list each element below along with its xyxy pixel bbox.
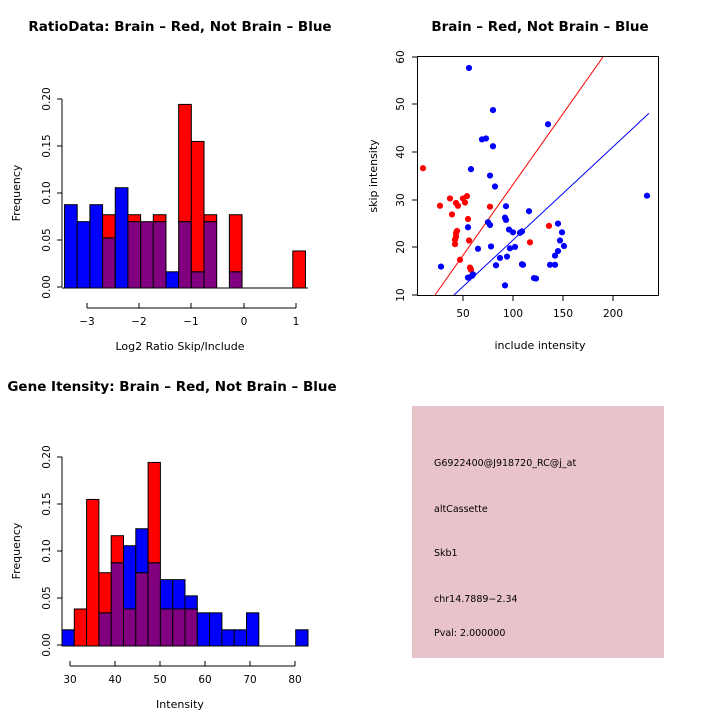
histogram-bar-overlap — [99, 613, 111, 646]
gene-ytick-0: 0.00 — [41, 633, 53, 656]
scatter-data-points — [420, 65, 650, 289]
scatter-point — [559, 229, 565, 235]
histogram-bar — [179, 104, 192, 221]
ratio-histogram-bars — [65, 104, 306, 288]
scatter-xtick-1: 100 — [503, 308, 523, 320]
scatter-point — [497, 255, 503, 261]
histogram-bar-overlap — [191, 272, 204, 288]
event-type-text: altCassette — [434, 504, 488, 515]
scatter-point — [644, 193, 650, 199]
scatter-point — [475, 246, 481, 252]
scatter-point — [504, 253, 510, 259]
scatter-point — [503, 217, 509, 223]
histogram-bar-overlap — [160, 609, 172, 646]
gene-x-axis — [70, 661, 295, 666]
ratio-y-axis — [57, 99, 62, 287]
scatter-ytick-4: 50 — [395, 97, 407, 110]
histogram-bar — [90, 205, 103, 288]
histogram-bar — [111, 536, 123, 563]
ratio-xtick-4: 1 — [293, 316, 300, 328]
ratio-y-axis-label: Frequency — [10, 164, 23, 221]
scatter-point — [465, 224, 471, 230]
histogram-bar-overlap — [179, 222, 192, 288]
scatter-point — [465, 216, 471, 222]
histogram-bar — [185, 596, 197, 609]
scatter-point — [449, 211, 455, 217]
ratio-ytick-3: 0.15 — [41, 134, 53, 157]
locus-text: chr14.7889−2.34 — [434, 594, 518, 605]
scatter-point — [468, 166, 474, 172]
scatter-title: Brain – Red, Not Brain – Blue — [431, 19, 648, 35]
histogram-bar — [62, 630, 74, 646]
histogram-bar-overlap — [128, 222, 141, 288]
histogram-bar — [173, 580, 185, 609]
scatter-point — [464, 193, 470, 199]
histogram-bar-overlap — [136, 573, 148, 646]
ratio-xtick-1: −2 — [131, 316, 146, 328]
probe-id-text: G6922400@J918720_RC@j_at — [434, 458, 576, 469]
gene-ytick-1: 0.05 — [41, 586, 53, 609]
gene-histogram-bars — [62, 462, 308, 646]
ratio-ytick-2: 0.10 — [41, 181, 53, 204]
histogram-bar — [65, 205, 78, 288]
ratio-histogram-title: RatioData: Brain – Red, Not Brain – Blue — [28, 19, 331, 35]
ratio-xtick-2: −1 — [183, 316, 198, 328]
histogram-bar-overlap — [103, 238, 116, 288]
histogram-bar — [234, 630, 246, 646]
histogram-bar — [136, 529, 148, 573]
scatter-point — [503, 203, 509, 209]
scatter-xtick-0: 50 — [456, 308, 469, 320]
scatter-point — [470, 271, 476, 277]
scatter-point — [492, 183, 498, 189]
histogram-bar — [191, 141, 204, 271]
scatter-point — [487, 204, 493, 210]
scatter-point — [466, 65, 472, 71]
histogram-bar — [247, 613, 259, 646]
scatter-plot-box — [418, 57, 659, 296]
scatter-point — [447, 195, 453, 201]
scatter-xtick-2: 150 — [553, 308, 573, 320]
histogram-bar — [210, 613, 222, 646]
gene-xtick-4: 70 — [243, 674, 256, 686]
histogram-bar — [103, 215, 116, 238]
panel-intensity-scatter: Brain – Red, Not Brain – Blue 10 20 30 4… — [360, 0, 720, 360]
scatter-point — [493, 262, 499, 268]
gene-histogram-title: Gene Itensity: Brain – Red, Not Brain – … — [7, 379, 336, 395]
panel-ratio-histogram: RatioData: Brain – Red, Not Brain – Blue… — [0, 0, 360, 360]
scatter-point — [546, 223, 552, 229]
histogram-bar — [229, 215, 242, 272]
histogram-bar — [128, 215, 141, 222]
scatter-ytick-0: 10 — [395, 288, 407, 301]
histogram-bar — [197, 613, 209, 646]
scatter-fit-lines — [435, 57, 649, 295]
histogram-bar-overlap — [204, 222, 217, 288]
histogram-bar — [74, 609, 86, 646]
gene-symbol-text: Skb1 — [434, 548, 458, 559]
histogram-bar — [296, 630, 308, 646]
histogram-bar-overlap — [185, 609, 197, 646]
scatter-point — [455, 203, 461, 209]
histogram-bar — [166, 272, 179, 288]
scatter-point — [437, 203, 443, 209]
pval-text: Pval: 2.000000 — [434, 628, 505, 639]
ratio-x-axis-label: Log2 Ratio Skip/Include — [115, 340, 244, 353]
histogram-bar — [293, 251, 306, 288]
scatter-point — [490, 143, 496, 149]
histogram-bar-overlap — [124, 609, 136, 646]
scatter-point — [420, 165, 426, 171]
histogram-bar-overlap — [111, 563, 123, 646]
scatter-point — [520, 262, 526, 268]
gene-ytick-4: 0.20 — [41, 445, 53, 468]
scatter-point — [454, 228, 460, 234]
histogram-bar — [222, 630, 234, 646]
scatter-point — [462, 199, 468, 205]
gene-xtick-3: 60 — [198, 674, 211, 686]
histogram-bar — [153, 215, 166, 222]
scatter-point — [533, 275, 539, 281]
scatter-point — [457, 257, 463, 263]
histogram-bar — [204, 215, 217, 222]
histogram-bar — [124, 546, 136, 609]
ratio-ytick-1: 0.05 — [41, 228, 53, 251]
histogram-bar — [160, 580, 172, 609]
scatter-point — [526, 208, 532, 214]
scatter-ytick-5: 60 — [395, 50, 407, 63]
scatter-xtick-3: 200 — [603, 308, 623, 320]
ratio-x-axis — [87, 303, 296, 308]
gene-x-axis-label: Intensity — [156, 698, 204, 711]
panel-gene-intensity-histogram: Gene Itensity: Brain – Red, Not Brain – … — [0, 360, 360, 720]
scatter-point — [490, 107, 496, 113]
scatter-point — [545, 121, 551, 127]
scatter-ytick-3: 40 — [395, 145, 407, 158]
scatter-y-axis — [412, 57, 417, 295]
scatter-point — [487, 222, 493, 228]
gene-ytick-3: 0.15 — [41, 492, 53, 515]
gene-xtick-1: 40 — [108, 674, 121, 686]
scatter-point — [512, 244, 518, 250]
scatter-point — [483, 135, 489, 141]
scatter-ytick-1: 20 — [395, 240, 407, 253]
histogram-bar-overlap — [229, 272, 242, 288]
gene-ytick-2: 0.10 — [41, 539, 53, 562]
histogram-bar-overlap — [153, 222, 166, 288]
scatter-ytick-2: 30 — [395, 193, 407, 206]
histogram-bar-overlap — [141, 222, 154, 288]
scatter-point — [552, 262, 558, 268]
histogram-bar — [115, 188, 128, 288]
gene-xtick-0: 30 — [63, 674, 76, 686]
ratio-ytick-0: 0.00 — [41, 275, 53, 298]
ratio-xtick-3: 0 — [241, 316, 248, 328]
annotation-box: G6922400@J918720_RC@j_at altCassette Skb… — [412, 406, 664, 658]
scatter-point — [510, 229, 516, 235]
scatter-point — [561, 243, 567, 249]
histogram-bar-overlap — [173, 609, 185, 646]
histogram-bar — [87, 499, 99, 646]
scatter-x-axis-label: include intensity — [494, 339, 586, 352]
ratio-xtick-0: −3 — [79, 316, 94, 328]
histogram-bar-overlap — [148, 563, 160, 646]
scatter-point — [519, 228, 525, 234]
gene-y-axis-label: Frequency — [10, 522, 23, 579]
scatter-point — [557, 237, 563, 243]
scatter-point — [552, 253, 558, 259]
gene-y-axis — [57, 457, 62, 645]
ratio-ytick-4: 0.20 — [41, 87, 53, 110]
scatter-point — [487, 172, 493, 178]
panel-annotation-info: G6922400@J918720_RC@j_at altCassette Skb… — [360, 360, 720, 720]
histogram-bar — [99, 573, 111, 613]
scatter-point — [466, 237, 472, 243]
histogram-bar — [77, 222, 90, 288]
gene-histogram-svg: Gene Itensity: Brain – Red, Not Brain – … — [0, 360, 360, 720]
histogram-bar — [148, 462, 160, 562]
scatter-point — [488, 243, 494, 249]
gene-xtick-5: 80 — [288, 674, 301, 686]
scatter-point — [502, 282, 508, 288]
scatter-y-axis-label: skip intensity — [367, 139, 380, 213]
scatter-x-axis — [463, 296, 613, 301]
scatter-point — [438, 264, 444, 270]
scatter-point — [555, 221, 561, 227]
ratio-histogram-svg: RatioData: Brain – Red, Not Brain – Blue… — [0, 0, 360, 360]
scatter-point — [527, 239, 533, 245]
scatter-svg: Brain – Red, Not Brain – Blue 10 20 30 4… — [360, 0, 720, 360]
gene-xtick-2: 50 — [153, 674, 166, 686]
